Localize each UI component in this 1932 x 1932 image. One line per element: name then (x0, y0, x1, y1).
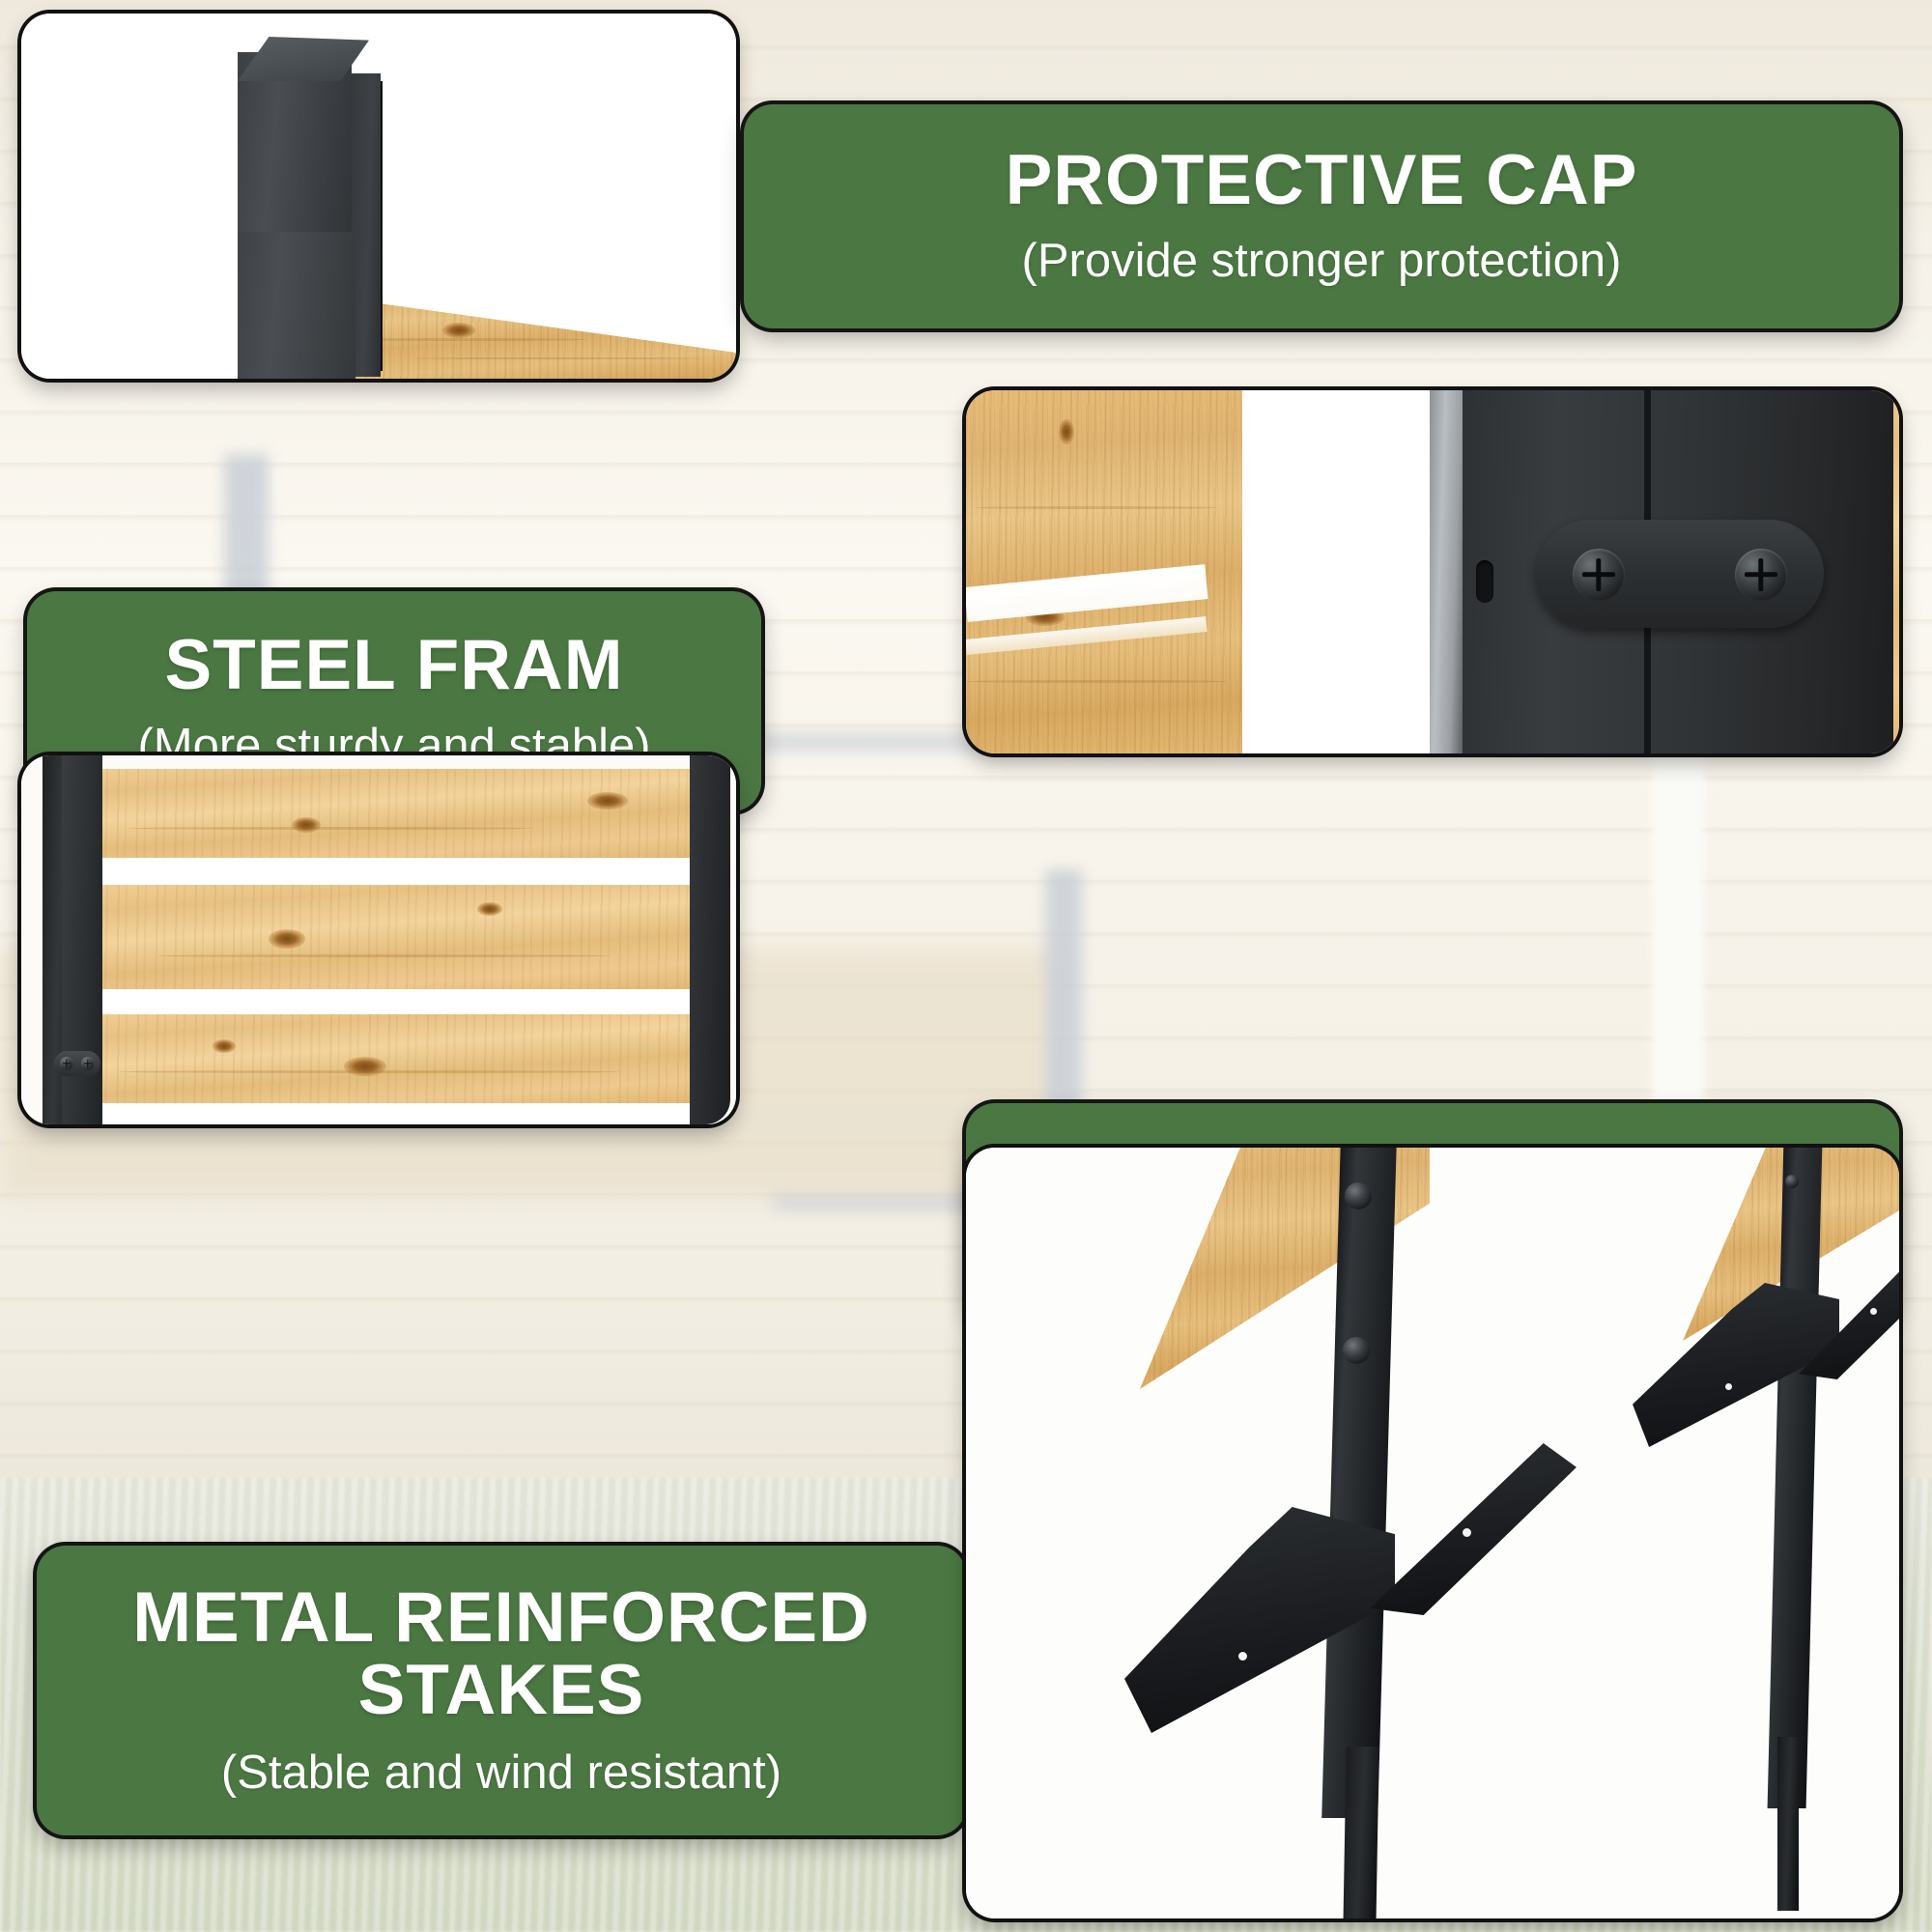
label-subtitle: (Stable and wind resistant) (221, 1746, 781, 1800)
wood-knot-icon (477, 902, 502, 916)
cap-front-face (238, 232, 355, 379)
panel-screw-bracket (54, 1051, 100, 1076)
screw-icon (81, 1057, 95, 1070)
frame-screw-slot (1476, 560, 1493, 603)
infographic-canvas: PROTECTIVE CAP (Provide stronger protect… (0, 0, 1932, 1932)
wood-grain (118, 1070, 620, 1073)
plank-gap (99, 989, 694, 1014)
photo-protective-cap (21, 14, 736, 379)
protective-cap-scene (21, 14, 736, 379)
wood-grain (966, 680, 1227, 683)
wood-knot-icon (292, 817, 321, 833)
natural-wood-scene (21, 755, 736, 1124)
bolt-icon (1345, 1182, 1372, 1209)
wood-knot-icon (587, 792, 628, 810)
bolt-icon (1785, 1175, 1799, 1188)
screw-icon (1573, 549, 1625, 601)
plank-gap (99, 858, 694, 885)
wood-plank (99, 885, 694, 989)
wood-knot-icon (442, 323, 475, 338)
bolt-icon (1343, 1337, 1370, 1364)
frame-steel-assembly (1198, 390, 1662, 753)
label-metal-reinforced-stakes: METAL REINFORCED STAKES (Stable and wind… (37, 1546, 966, 1835)
panel-post-right (690, 755, 730, 1124)
wood-knot-icon (269, 929, 305, 949)
photo-steel-frame (966, 390, 1899, 753)
photo-metal-stakes (966, 1148, 1899, 1918)
fin-hole (1870, 1308, 1877, 1315)
wood-grain (156, 954, 611, 957)
wood-plank (99, 769, 694, 858)
label-protective-cap: PROTECTIVE CAP (Provide stronger protect… (744, 104, 1899, 328)
metal-stakes-scene (966, 1148, 1899, 1918)
photo-natural-wood (21, 755, 736, 1124)
label-title-line2: STAKES (358, 1654, 645, 1726)
wood-grain (976, 506, 1217, 509)
fin-hole (1725, 1383, 1732, 1390)
stake-spike-right (1777, 1737, 1799, 1911)
screw-icon (1735, 549, 1787, 601)
stake-fin-left-back (1370, 1443, 1577, 1615)
label-title: PROTECTIVE CAP (1006, 144, 1638, 216)
screw-icon (60, 1057, 73, 1070)
wood-knot-icon (344, 1057, 386, 1076)
label-title-line1: METAL REINFORCED (132, 1581, 870, 1654)
wood-knot-icon (1059, 419, 1074, 444)
label-title: STEEL FRAM (164, 629, 623, 701)
wood-knot-icon (213, 1039, 236, 1053)
wood-grain (413, 357, 703, 359)
wood-grain (128, 827, 533, 830)
frame-steel-edge-light (1430, 390, 1463, 753)
fin-hole (1238, 1652, 1247, 1661)
fin-hole (1463, 1528, 1471, 1537)
label-subtitle: (Provide stronger protection) (1022, 234, 1622, 288)
plank-gap (99, 1103, 694, 1124)
stake-spike-left (1343, 1747, 1378, 1918)
wood-plank (99, 1014, 694, 1103)
